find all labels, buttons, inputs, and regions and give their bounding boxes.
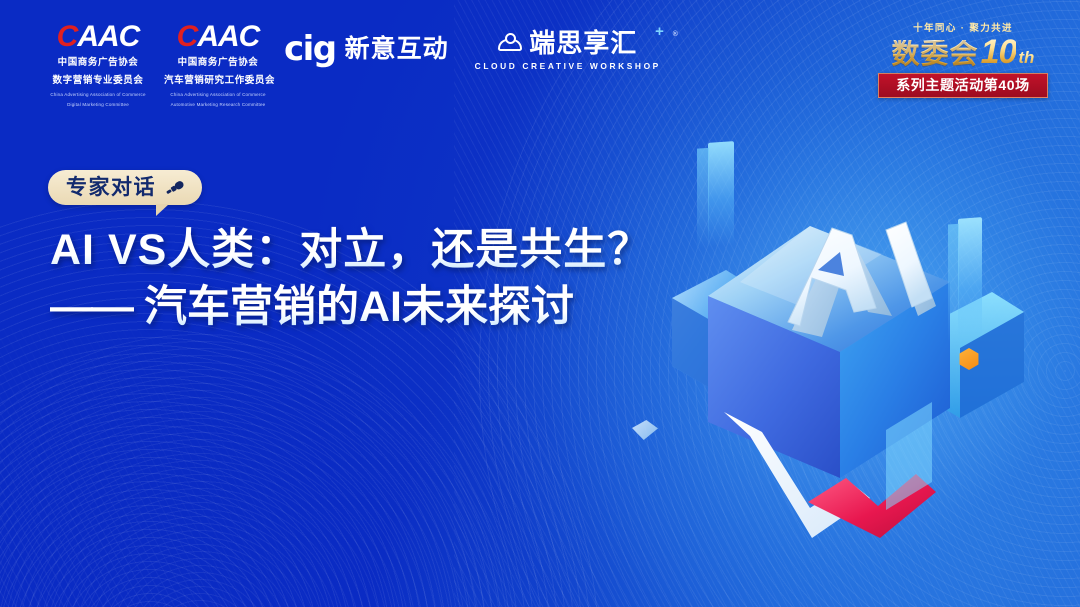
cloud-en-name: CLOUD CREATIVE WORKSHOP — [475, 61, 661, 71]
caac2-cn-line2: 汽车营销研究工作委员会 — [164, 74, 272, 88]
caac-rest-2: AAC — [197, 20, 259, 53]
caac-wordmark: CAAC — [44, 22, 152, 52]
caac2-en-line1: China Advertising Association of Commerc… — [165, 91, 271, 98]
light-bar-right — [958, 217, 982, 341]
light-bar-left — [708, 141, 734, 247]
expert-dialogue-badge: 专家对话 — [48, 170, 202, 205]
cloud-cn-name: 端思享汇 — [529, 30, 637, 56]
caac2-en-line2: Automotive Marketing Research Committee — [165, 101, 271, 108]
diagonal-texture-left — [0, 328, 367, 607]
logo-cig: cig 新意互动 — [284, 32, 449, 66]
logo-cloud-creative-workshop: 端思享汇 + ® CLOUD CREATIVE WORKSHOP — [475, 30, 661, 71]
anniversary-badge: 十年同心 · 聚力共进 数委会 10 th 系列主题活动第40场 — [872, 20, 1054, 98]
cloud-icon — [498, 33, 524, 53]
caac-en-line1: China Advertising Association of Commerc… — [45, 91, 151, 98]
caac2-cn-line1: 中国商务广告协会 — [164, 56, 272, 70]
cloud-logo-cn: 端思享汇 + ® — [475, 30, 661, 56]
caac-cn-line1: 中国商务广告协会 — [44, 56, 152, 70]
series-ribbon: 系列主题活动第40场 — [878, 73, 1048, 98]
ai-cube-illustration — [640, 130, 1080, 550]
expert-dialogue-label: 专家对话 — [66, 177, 156, 198]
headline-line-2: —— 汽车营销的AI未来探讨 — [50, 279, 651, 336]
headline-block: AI VS人类：对立，还是共生？ —— 汽车营销的AI未来探讨 — [50, 222, 651, 336]
headline-dash: —— — [50, 283, 132, 331]
caac-cn-line2: 数字营销专业委员会 — [44, 74, 152, 88]
logo-caac-digital-marketing: CAAC 中国商务广告协会 数字营销专业委员会 China Advertisin… — [44, 22, 152, 108]
caac-en-line2: Digital Marketing Committee — [45, 101, 151, 108]
registered-icon: ® — [673, 31, 679, 38]
microphone-icon — [164, 178, 186, 198]
headline-line-1: AI VS人类：对立，还是共生？ — [50, 222, 651, 279]
cig-wordmark: cig — [284, 32, 336, 66]
cig-cn-name: 新意互动 — [345, 37, 449, 62]
logo-bar: CAAC 中国商务广告协会 数字营销专业委员会 China Advertisin… — [44, 22, 661, 108]
anniversary-cn-name: 数委会 — [892, 40, 979, 68]
concentric-rings-left-inner — [0, 330, 520, 607]
anniversary-tagline: 十年同心 · 聚力共进 — [872, 20, 1054, 34]
logo-caac-automotive: CAAC 中国商务广告协会 汽车营销研究工作委员会 China Advertis… — [164, 22, 272, 108]
caac-initial-2: C — [177, 20, 198, 53]
anniversary-number: 10 — [981, 35, 1017, 69]
headline-subtitle: 汽车营销的AI未来探讨 — [144, 283, 574, 331]
caac-wordmark-2: CAAC — [164, 22, 272, 52]
caac-rest: AAC — [77, 20, 139, 53]
anniversary-title-row: 数委会 10 th — [872, 35, 1054, 69]
poster-canvas: CAAC 中国商务广告协会 数字营销专业委员会 China Advertisin… — [0, 0, 1080, 607]
caac-initial: C — [57, 20, 78, 53]
anniversary-ordinal: th — [1018, 49, 1034, 66]
plus-icon: + — [655, 24, 665, 39]
